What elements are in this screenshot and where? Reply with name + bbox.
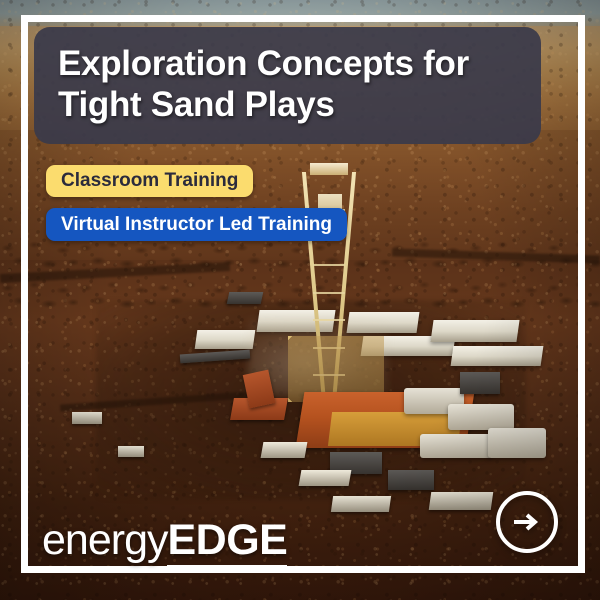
mud-tank [448, 404, 514, 430]
site-vehicle [429, 492, 494, 510]
derrick-crown [310, 163, 348, 175]
camp-building [195, 330, 256, 349]
camp-building [430, 320, 519, 342]
promo-card: Exploration Concepts for Tight Sand Play… [0, 0, 600, 600]
logo-text-energy: energy [42, 516, 167, 564]
site-vehicle [261, 442, 308, 458]
badge-label: Virtual Instructor Led Training [61, 214, 332, 236]
camp-building [451, 346, 544, 366]
status-badge-classroom-training[interactable]: Classroom Training [46, 165, 253, 197]
site-vehicle [299, 470, 352, 486]
next-button[interactable] [496, 491, 558, 553]
status-badge-virtual-instructor-led-training[interactable]: Virtual Instructor Led Training [46, 208, 347, 241]
arrow-right-icon [512, 511, 542, 533]
site-vehicle [227, 292, 264, 304]
title-panel: Exploration Concepts for Tight Sand Play… [34, 27, 541, 144]
brand-logo[interactable]: energyEDGE [42, 519, 287, 562]
equipment-container [388, 470, 434, 490]
site-vehicle [331, 496, 391, 512]
equipment-container [460, 372, 500, 394]
mud-tank [488, 428, 546, 458]
page-title: Exploration Concepts for Tight Sand Play… [58, 44, 517, 125]
mud-tank [420, 434, 492, 458]
site-vehicle [72, 412, 102, 424]
site-vehicle [118, 446, 144, 457]
badge-label: Classroom Training [61, 170, 238, 192]
logo-text-edge: EDGE [167, 516, 287, 569]
